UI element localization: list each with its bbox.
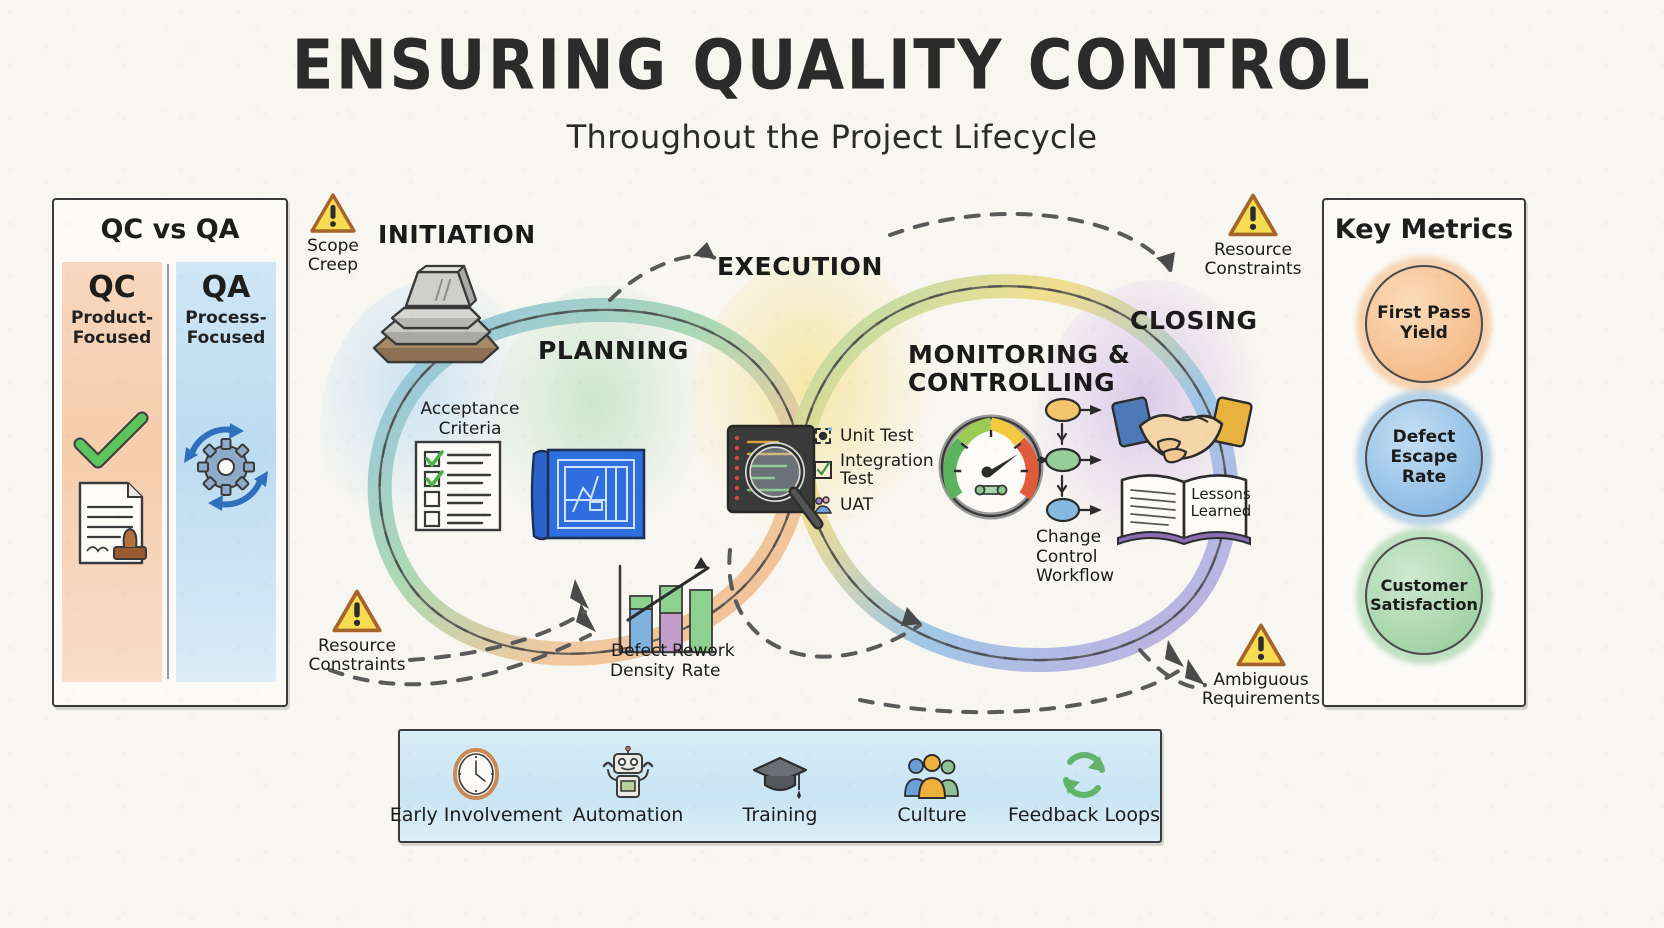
- warning-triangle-icon: [1235, 622, 1287, 670]
- qa-code: QA: [176, 270, 276, 305]
- phase-label-controlling: CONTROLLING: [908, 369, 1115, 397]
- enabler-label: Feedback Loops: [1008, 804, 1160, 826]
- integration-test-icon: [812, 459, 834, 481]
- page-title: ENSURING QUALITY CONTROL: [0, 26, 1664, 106]
- enablers-bar: Early Involvement A: [398, 729, 1162, 843]
- qc-focus: Product- Focused: [62, 308, 162, 348]
- enabler-training[interactable]: Training: [705, 746, 855, 826]
- checklist-icon: [412, 438, 504, 534]
- chart-label-defect-density: Defect Density: [610, 642, 668, 681]
- qc-vs-qa-title: QC vs QA: [54, 214, 286, 245]
- page-subtitle: Throughout the Project Lifecycle: [0, 118, 1664, 156]
- enabler-automation[interactable]: Automation: [553, 746, 703, 826]
- arrow-to-closing: [860, 670, 1180, 712]
- blueprint-icon: [528, 440, 650, 548]
- risk-label: Resource Constraints: [292, 637, 422, 675]
- enabler-label: Automation: [573, 804, 684, 826]
- qc-focus-line1: Product-: [71, 308, 153, 328]
- qc-code: QC: [62, 270, 162, 305]
- enabler-culture[interactable]: Culture: [857, 746, 1007, 826]
- phase-label-closing: CLOSING: [1130, 307, 1258, 335]
- acceptance-criteria-caption: Acceptance Criteria: [408, 400, 532, 439]
- robot-icon: [600, 746, 656, 800]
- arrow-planning-to-execution: [610, 255, 715, 300]
- risk-label: Scope Creep: [268, 237, 398, 275]
- metric-customer-satisfaction: Customer Satisfaction: [1338, 530, 1510, 662]
- enabler-label: Culture: [897, 804, 966, 826]
- enabler-feedback-loops[interactable]: Feedback Loops: [1009, 746, 1159, 826]
- metric-label: First Pass Yield: [1377, 304, 1471, 343]
- refresh-cycle-icon: [1058, 746, 1110, 800]
- infographic-canvas: ENSURING QUALITY CONTROL Throughout the …: [0, 0, 1664, 928]
- gear-cycle-icon: [178, 412, 274, 522]
- risk-ambiguous-requirements: Ambiguous Requirements: [1186, 622, 1336, 709]
- change-control-workflow-caption: Change Control Workflow: [1036, 528, 1126, 587]
- outer-feedback-arrows: [300, 560, 1320, 740]
- foundation-stone-icon: [366, 262, 506, 377]
- phase-label-execution: EXECUTION: [717, 253, 883, 281]
- enabler-early-involvement[interactable]: Early Involvement: [401, 746, 551, 826]
- metric-first-pass-yield: First Pass Yield: [1338, 258, 1510, 390]
- people-group-icon: [902, 746, 962, 800]
- phase-label-initiation: INITIATION: [378, 221, 536, 249]
- phase-label-monitoring: MONITORING &: [908, 341, 1130, 369]
- qc-focus-line2: Focused: [73, 328, 152, 348]
- document-stamp-icon: [74, 477, 152, 569]
- uat-users-icon: [812, 494, 834, 516]
- test-label: Unit Test: [840, 427, 914, 445]
- qc-vs-qa-panel: QC vs QA QC Product- Focused: [52, 198, 288, 707]
- risk-label: Ambiguous Requirements: [1186, 671, 1336, 709]
- test-label: Integration Test: [840, 452, 934, 489]
- test-item-unit-test: Unit Test: [812, 425, 932, 447]
- key-metrics-panel: Key Metrics First Pass Yield Defect Esca…: [1322, 198, 1526, 707]
- test-label: UAT: [840, 496, 873, 514]
- chart-label-rework-rate: Rework Rate: [672, 642, 730, 681]
- metric-defect-escape-rate: Defect Escape Rate: [1338, 392, 1510, 524]
- enabler-label: Training: [743, 804, 818, 826]
- warning-triangle-icon: [331, 588, 383, 636]
- metric-badge: Customer Satisfaction: [1365, 537, 1483, 655]
- gauge-icon: [938, 414, 1044, 520]
- qa-focus-line1: Process-: [185, 308, 266, 328]
- risk-label: Resource Constraints: [1188, 241, 1318, 279]
- qa-focus: Process- Focused: [176, 308, 276, 348]
- graduation-cap-icon: [751, 746, 809, 800]
- warning-triangle-icon: [309, 192, 357, 236]
- test-types-list: Unit Test Integration Test UAT: [812, 425, 932, 521]
- arrow-to-planning: [410, 612, 585, 660]
- metric-label: Customer Satisfaction: [1370, 577, 1478, 614]
- risk-resource-constraints-right: Resource Constraints: [1188, 192, 1318, 279]
- metric-badge: Defect Escape Rate: [1365, 399, 1483, 517]
- key-metrics-title: Key Metrics: [1324, 214, 1524, 245]
- change-control-workflow-diagram: [1036, 396, 1120, 536]
- qc-qa-divider: [167, 264, 169, 679]
- warning-triangle-icon: [1227, 192, 1279, 240]
- lessons-learned-label: Lessons Learned: [1186, 486, 1256, 521]
- test-item-integration-test: Integration Test: [812, 452, 932, 489]
- unit-test-icon: [812, 425, 834, 447]
- check-mark-icon: [72, 412, 152, 472]
- test-item-uat: UAT: [812, 494, 932, 516]
- risk-resource-constraints-left: Resource Constraints: [292, 588, 422, 675]
- metric-label: Defect Escape Rate: [1391, 428, 1458, 487]
- clock-icon: [451, 746, 501, 800]
- enabler-label: Early Involvement: [390, 804, 562, 826]
- phase-label-planning: PLANNING: [538, 337, 689, 365]
- qc-column: QC Product- Focused: [62, 262, 162, 682]
- qa-focus-line2: Focused: [187, 328, 266, 348]
- risk-scope-creep: Scope Creep: [268, 192, 398, 275]
- qa-column: QA Process- Focused: [176, 262, 276, 682]
- metric-badge: First Pass Yield: [1365, 265, 1483, 383]
- code-inspect-icon: [722, 420, 826, 538]
